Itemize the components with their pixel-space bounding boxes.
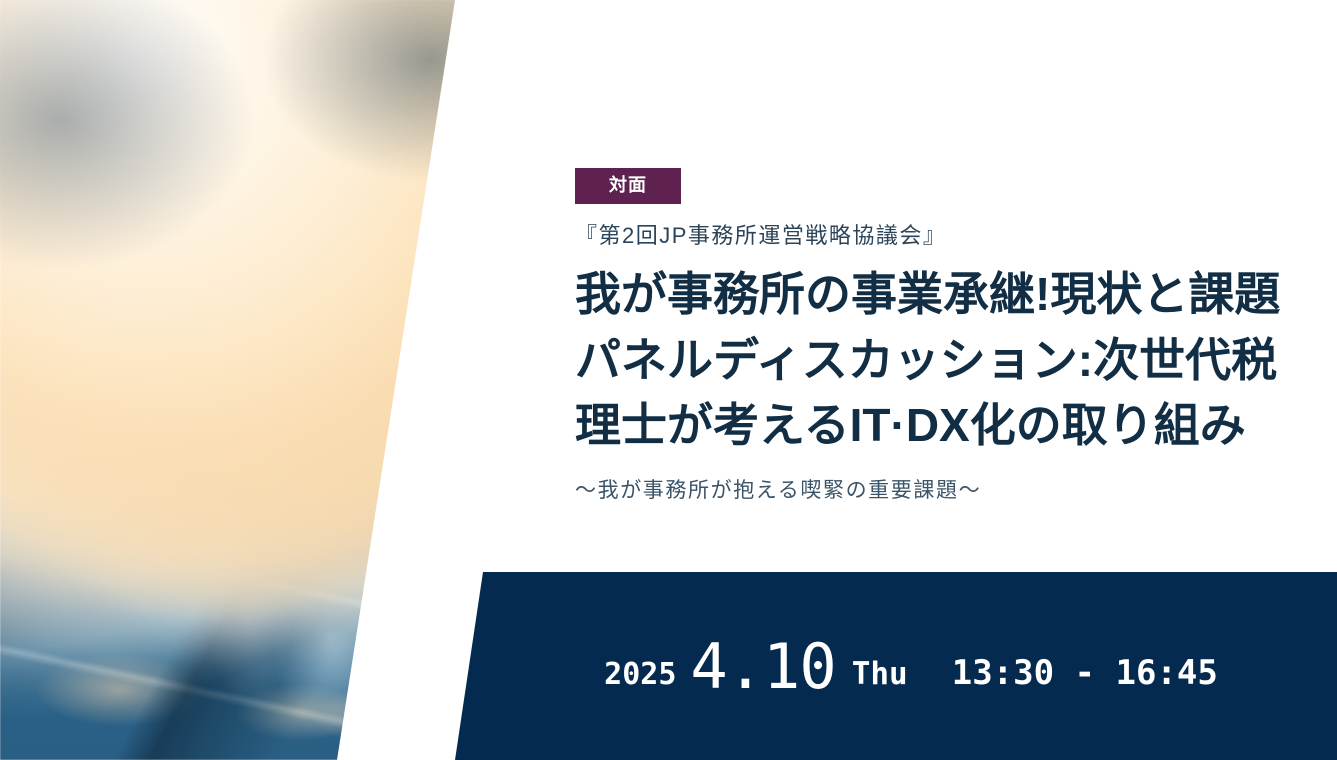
hero-photo-image: [0, 0, 520, 760]
format-badge: 対面: [575, 168, 681, 204]
event-date-bar: 2025 4.10 Thu 13:30 - 16:45: [455, 572, 1337, 760]
page-subtitle: ～我が事務所が抱える喫緊の重要課題～: [575, 474, 1315, 504]
event-time-range: 13:30 - 16:45: [952, 653, 1218, 693]
hero-photo: [0, 0, 520, 760]
page-title-line-3: 理士が考えるIT·DX化の取り組み: [575, 393, 1315, 458]
event-weekday: Thu: [852, 656, 908, 692]
event-day: 4.10: [690, 630, 835, 703]
seminar-banner: 対面 『第2回JP事務所運営戦略協議会』 我が事務所の事業承継!現状と課題 パネ…: [0, 0, 1337, 760]
page-title-line-1: 我が事務所の事業承継!現状と課題: [575, 262, 1315, 327]
event-year: 2025: [604, 657, 676, 692]
page-title: 我が事務所の事業承継!現状と課題 パネルディスカッション:次世代税 理士が考える…: [575, 262, 1315, 458]
page-title-line-2: パネルディスカッション:次世代税: [575, 328, 1315, 393]
banner-content: 対面 『第2回JP事務所運営戦略協議会』 我が事務所の事業承継!現状と課題 パネ…: [575, 168, 1315, 504]
event-date-row: 2025 4.10 Thu 13:30 - 16:45: [455, 572, 1337, 760]
event-series-title: 『第2回JP事務所運営戦略協議会』: [575, 222, 1315, 251]
